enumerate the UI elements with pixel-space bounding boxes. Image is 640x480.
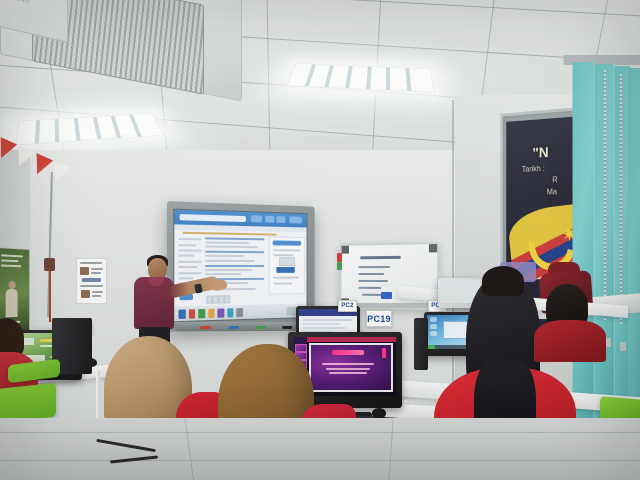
pc-label-text: PC2: [341, 303, 354, 309]
powerpoint-ribbon[interactable]: [294, 337, 397, 342]
browser-results-list[interactable]: [205, 236, 264, 305]
marker-black[interactable]: [282, 326, 292, 329]
student-shoulders-right-back: [534, 320, 606, 362]
price-badge: [276, 267, 295, 274]
mouse-center[interactable]: [372, 408, 386, 418]
banner-heading: "N: [532, 144, 548, 161]
marker-green[interactable]: [256, 326, 266, 329]
browser-search-input[interactable]: [180, 214, 246, 222]
marker-blue[interactable]: [228, 326, 239, 329]
presentation-slide: [311, 345, 391, 390]
classroom-photo: AIRCOND: [0, 0, 640, 480]
marker-red[interactable]: [200, 326, 211, 329]
mouse-left[interactable]: [84, 358, 97, 367]
interactive-whiteboard[interactable]: [167, 201, 315, 332]
projected-taskbar[interactable]: [174, 304, 306, 322]
blind-chain[interactable]: [604, 70, 606, 320]
desk-leg: [96, 370, 100, 422]
banner-line-2: R: [552, 175, 557, 184]
whiteboard-heading: [360, 256, 401, 259]
banner-line-1: Tarikh :: [522, 164, 545, 174]
projected-browser-screen[interactable]: [173, 209, 307, 323]
floor: [0, 418, 640, 480]
pc-label-text: PC19: [367, 314, 391, 324]
whiteboard-magnet-blue[interactable]: [381, 292, 392, 299]
blind-chain[interactable]: [620, 74, 622, 324]
cpu-tower-right: [414, 318, 428, 370]
whiteboard-magnet-red[interactable]: [337, 253, 342, 262]
pc-label-center-back: PC2: [338, 300, 357, 312]
instructor-collar: [148, 277, 164, 286]
whiteboard-magnet-green[interactable]: [337, 262, 342, 270]
student-head-right-front-top: [482, 266, 524, 296]
blind-weight: [620, 342, 626, 351]
browser-detail-panel[interactable]: [269, 236, 305, 295]
banner-line-3: Ma: [547, 187, 557, 196]
slide-title-bar: [332, 350, 364, 355]
pc-label-center-front: PC19: [366, 310, 392, 327]
wall-notice-poster: [76, 258, 107, 304]
wall-cable-drop: [49, 270, 51, 322]
marker-tray: [175, 322, 313, 331]
